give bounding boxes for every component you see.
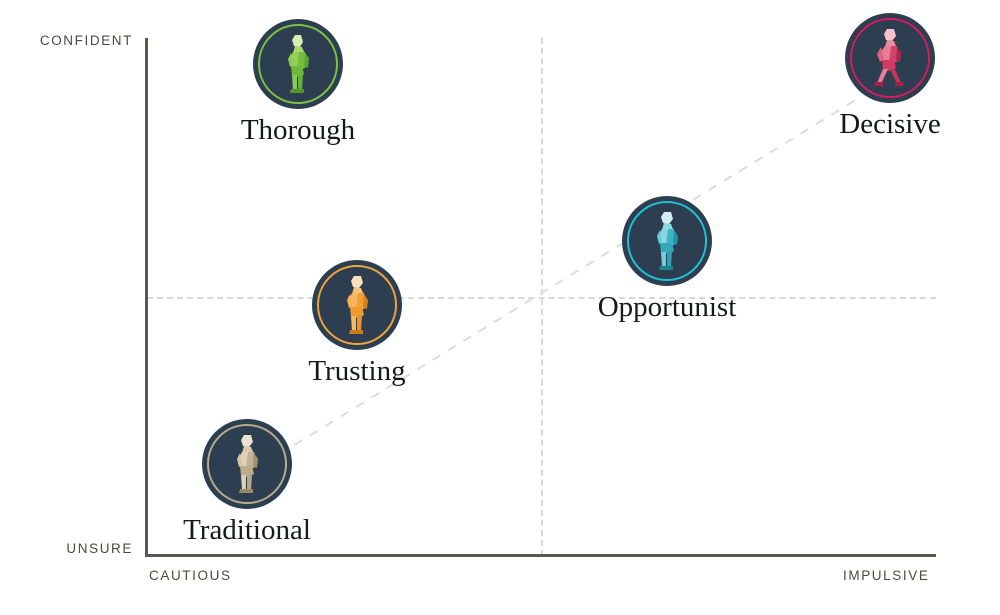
axis-label-cautious: CAUTIOUS [149,568,232,583]
person-icon-traditional [224,432,270,496]
marker-label-thorough: Thorough [241,116,355,145]
marker-label-trusting: Trusting [308,357,405,386]
quadrant-chart: CONFIDENT UNSURE CAUTIOUS IMPULSIVE Thor… [0,0,1000,615]
marker-disc-decisive [845,13,935,103]
marker-label-traditional: Traditional [183,516,311,545]
person-icon-opportunist [644,209,690,273]
axis-label-confident: CONFIDENT [40,33,133,48]
trend-line [0,0,1000,615]
person-icon-trusting [334,273,380,337]
marker-disc-traditional [202,419,292,509]
marker-label-decisive: Decisive [839,110,940,139]
person-icon-thorough [275,32,321,96]
axis-label-impulsive: IMPULSIVE [843,568,929,583]
marker-disc-opportunist [622,196,712,286]
marker-label-opportunist: Opportunist [598,293,737,322]
marker-disc-thorough [253,19,343,109]
marker-disc-trusting [312,260,402,350]
axis-label-unsure: UNSURE [66,541,133,556]
x-axis [145,554,936,557]
person-icon-decisive [865,26,915,90]
vertical-guide-line [541,38,543,556]
horizontal-guide-line [147,297,936,299]
y-axis [145,38,148,557]
